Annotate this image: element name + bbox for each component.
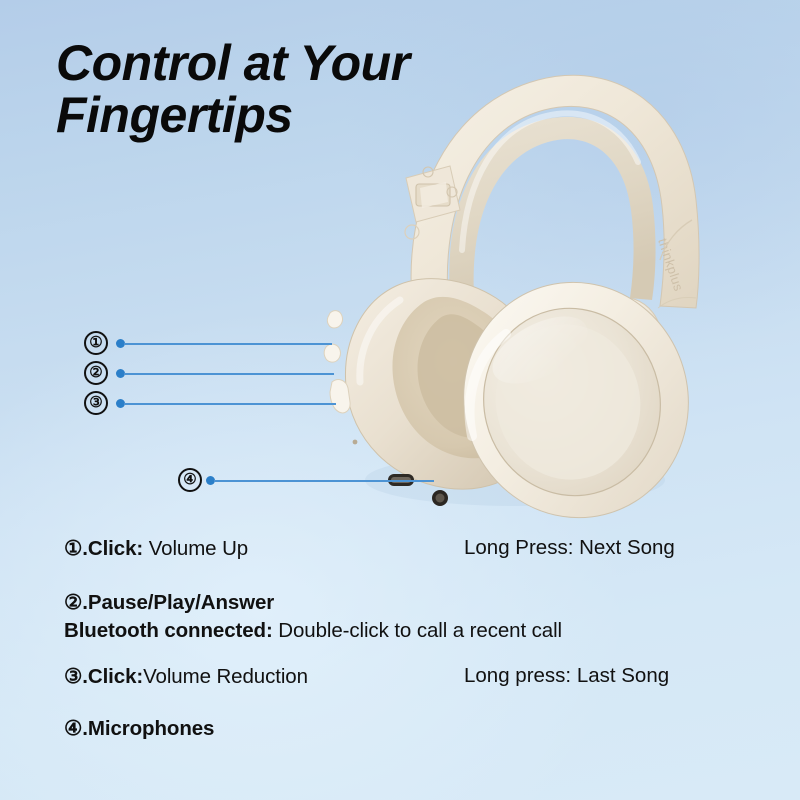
legend-row-4-left: ④.Microphones — [64, 716, 764, 741]
callout-3-line — [124, 403, 336, 405]
legend-row-1-right-value: Next Song — [573, 536, 674, 559]
callout-4-line — [214, 480, 434, 482]
legend-row-3-value: Volume Reduction — [143, 665, 308, 688]
volume-down-button — [330, 380, 350, 413]
volume-up-button — [327, 311, 342, 328]
legend-row-2-marker: ②. — [64, 591, 88, 614]
product-infographic-poster: Control at Your Fingertips — [0, 0, 800, 800]
legend-row-3-right: Long press: Last Song — [464, 664, 669, 688]
legend-row-3-marker: ③. — [64, 665, 88, 688]
legend-row-4: ④.Microphones — [64, 716, 764, 756]
callout-1-line — [124, 343, 332, 345]
led-indicator — [353, 440, 358, 445]
legend-row-2-label: Pause/Play/Answer — [88, 591, 274, 614]
legend-row-2-second-label: Bluetooth connected: — [64, 619, 273, 642]
legend-row-4-label: Microphones — [88, 717, 214, 740]
legend-row-2-left: ②.Pause/Play/Answer — [64, 590, 764, 615]
callout-2-line — [124, 373, 334, 375]
legend-row-3-right-label: Long press: — [464, 664, 571, 687]
headphones-product-image: thinkplus — [300, 50, 720, 520]
control-legend: ①.Click: Volume Up Long Press: Next Song… — [64, 536, 764, 756]
legend-row-3-right-value: Last Song — [571, 664, 669, 687]
legend-row-2-second: Bluetooth connected: Double-click to cal… — [64, 619, 764, 643]
legend-row-1-right: Long Press: Next Song — [464, 536, 675, 560]
callout-2-number: ② — [84, 361, 108, 385]
legend-row-3: ③.Click:Volume Reduction Long press: Las… — [64, 664, 764, 716]
legend-row-2-second-value: Double-click to call a recent call — [273, 619, 562, 642]
legend-row-1: ①.Click: Volume Up Long Press: Next Song — [64, 536, 764, 590]
play-pause-button — [324, 344, 340, 362]
callout-1-number: ① — [84, 331, 108, 355]
legend-row-1-right-label: Long Press: — [464, 536, 573, 559]
legend-row-4-marker: ④. — [64, 717, 88, 740]
legend-row-3-label: Click: — [88, 665, 143, 688]
audio-jack-port — [432, 490, 448, 506]
legend-row-1-value: Volume Up — [143, 537, 248, 560]
legend-row-1-label: Click: — [88, 537, 143, 560]
legend-row-2: ②.Pause/Play/Answer Bluetooth connected:… — [64, 590, 764, 664]
callout-3-number: ③ — [84, 391, 108, 415]
callout-4-number: ④ — [178, 468, 202, 492]
legend-row-1-marker: ①. — [64, 537, 88, 560]
